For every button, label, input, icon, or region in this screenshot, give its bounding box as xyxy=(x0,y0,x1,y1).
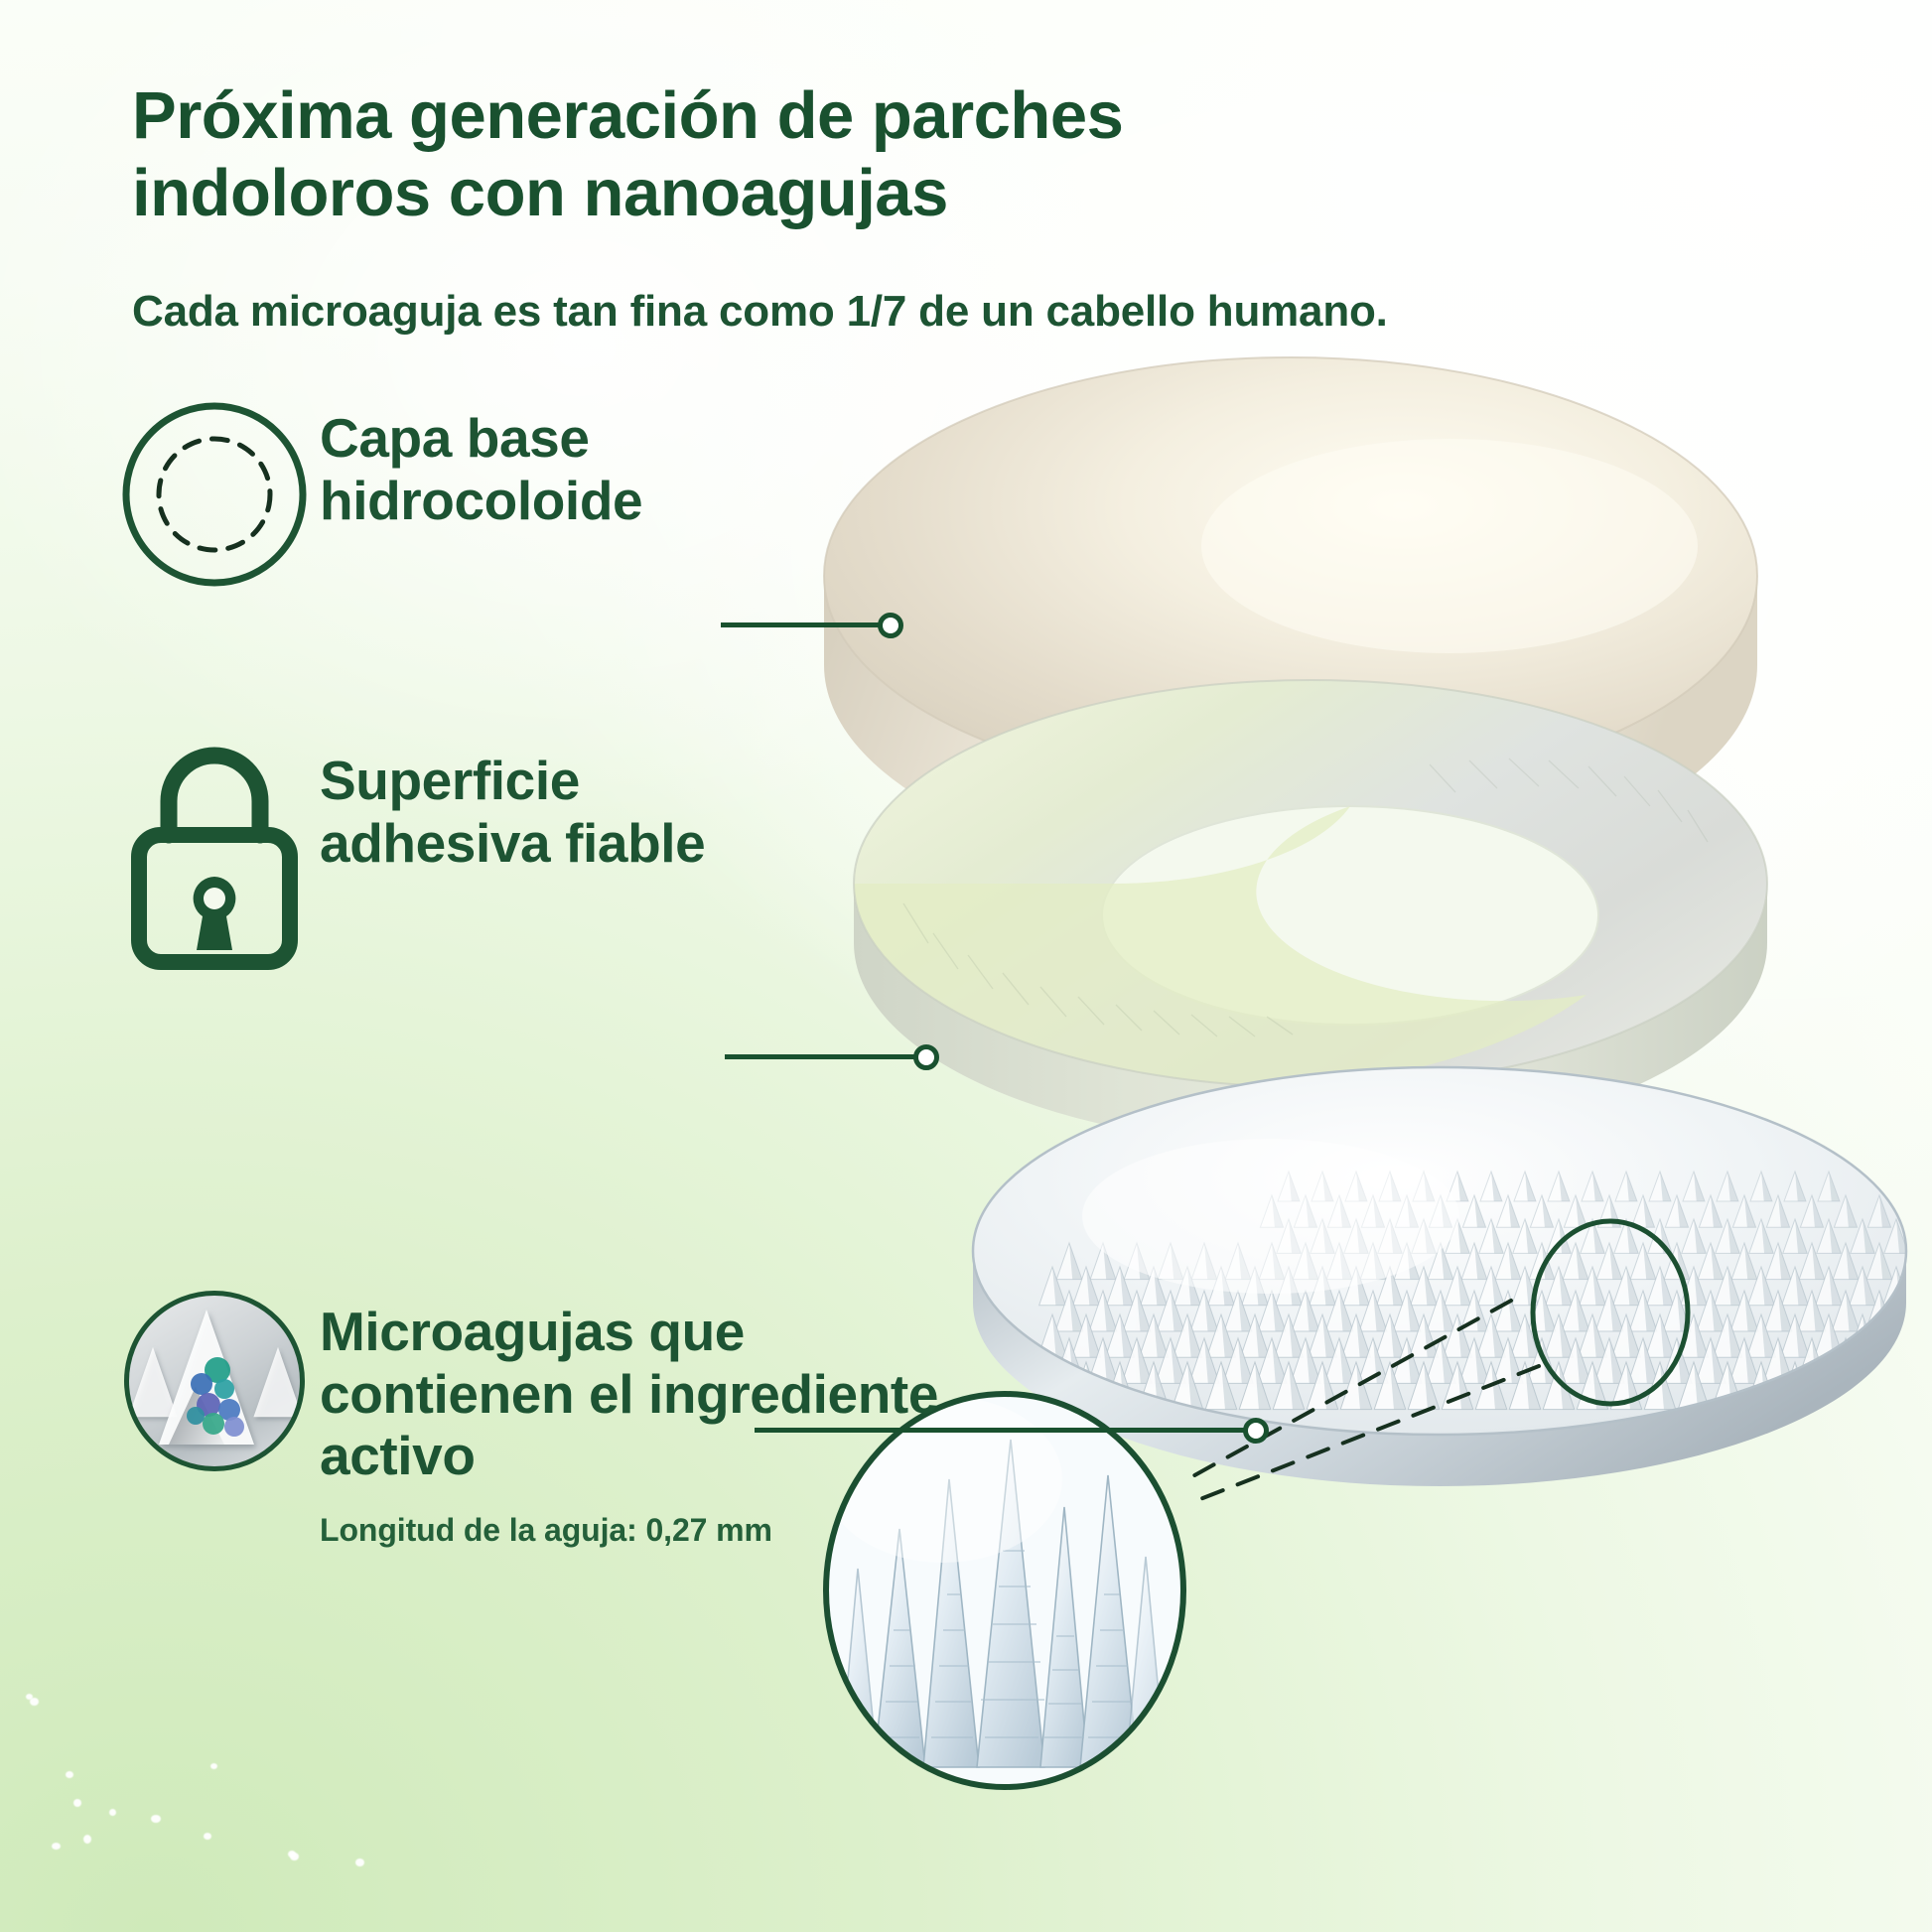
feature-label-line-1: Microagujas que xyxy=(320,1301,938,1363)
feature-label-line-1: Superficie xyxy=(320,750,705,812)
dashed-circle-layer-icon xyxy=(109,397,320,592)
feature-item-hydrocolloid: Capa base hidrocoloide xyxy=(109,397,642,592)
feature-label-hydrocolloid: Capa base hidrocoloide xyxy=(320,397,642,531)
feature-label-line-3: activo xyxy=(320,1425,938,1487)
feature-label-line-1: Capa base xyxy=(320,407,642,470)
needle-cone-right xyxy=(253,1347,302,1418)
page-title: Próxima generación de parches indoloros … xyxy=(132,77,1304,233)
page-subtitle: Cada microaguja es tan fina como 1/7 de … xyxy=(132,286,1462,339)
title-line-2: indoloros con nanoagujas xyxy=(132,155,1304,232)
title-line-1: Próxima generación de parches xyxy=(132,77,1304,155)
feature-label-line-2: adhesiva fiable xyxy=(320,812,705,875)
feature-item-microneedles: Microagujas que contienen el ingrediente… xyxy=(109,1291,938,1549)
feature-label-microneedles: Microagujas que contienen el ingrediente… xyxy=(320,1291,938,1549)
infographic-canvas: Próxima generación de parches indoloros … xyxy=(0,0,1932,1932)
feature-item-adhesive: Superficie adhesiva fiable xyxy=(109,740,705,974)
feature-label-line-2: hidrocoloide xyxy=(320,470,642,532)
feature-label-line-2: contienen el ingrediente xyxy=(320,1363,938,1426)
padlock-icon xyxy=(109,740,320,974)
microneedle-pyramid-icon xyxy=(109,1291,320,1471)
feature-label-adhesive: Superficie adhesiva fiable xyxy=(320,740,705,874)
needle-length-note: Longitud de la aguja: 0,27 mm xyxy=(320,1511,938,1549)
